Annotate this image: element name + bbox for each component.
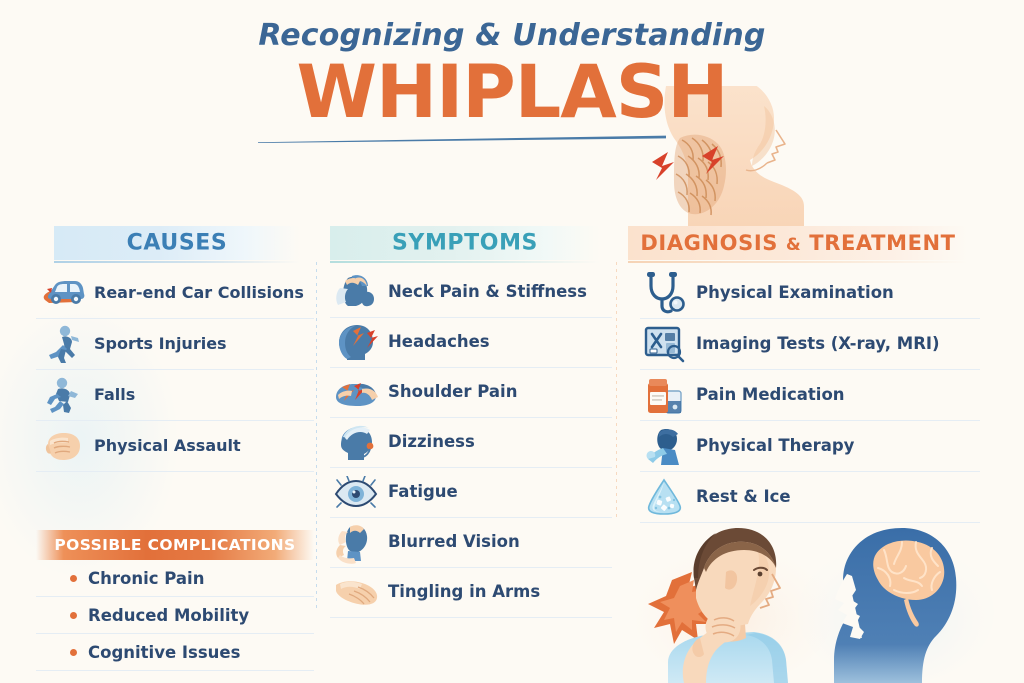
list-item-label: Chronic Pain <box>88 569 204 588</box>
list-item-label: Physical Examination <box>690 284 894 302</box>
title-underline-swoosh <box>258 135 668 143</box>
list-item[interactable]: Tingling in Arms <box>330 568 612 618</box>
list-item-label: Physical Assault <box>88 437 241 455</box>
section-divider <box>640 522 970 523</box>
blurred-vision-icon <box>330 521 382 565</box>
page-header: Recognizing & Understanding WHIPLASH <box>0 18 1024 129</box>
list-item[interactable]: Rest & Ice <box>640 472 980 523</box>
list-item[interactable]: Cognitive Issues <box>36 634 314 671</box>
list-item[interactable]: Neck Pain & Stiffness <box>330 268 612 318</box>
pill-bottle-icon <box>640 373 690 417</box>
list-item[interactable]: Headaches <box>330 318 612 368</box>
list-item[interactable]: Imaging Tests (X-ray, MRI) <box>640 319 980 370</box>
list-item[interactable]: Dizziness <box>330 418 612 468</box>
list-item[interactable]: Physical Examination <box>640 268 980 319</box>
person-holding-neck-pain-illustration <box>648 528 788 683</box>
physical-therapy-icon <box>640 424 690 468</box>
bullet-icon <box>70 649 77 656</box>
list-item[interactable]: Sports Injuries <box>36 319 314 370</box>
list-item[interactable]: Physical Therapy <box>640 421 980 472</box>
list-item[interactable]: Reduced Mobility <box>36 597 314 634</box>
list-item[interactable]: Physical Assault <box>36 421 314 472</box>
dizziness-icon <box>330 421 382 465</box>
section-title-symptoms: SYMPTOMS <box>330 231 600 256</box>
list-item-label: Headaches <box>382 333 490 351</box>
band-underline <box>54 261 300 263</box>
list-item-label: Physical Therapy <box>690 437 854 455</box>
ice-pack-icon <box>640 475 690 519</box>
list-item[interactable]: Rear-end Car Collisions <box>36 268 314 319</box>
fist-icon <box>36 424 88 468</box>
possible-complications-section: POSSIBLE COMPLICATIONS Chronic Pain Redu… <box>36 530 314 671</box>
symptoms-list: Neck Pain & Stiffness Headaches <box>330 268 612 618</box>
complications-header-band: POSSIBLE COMPLICATIONS <box>36 530 314 560</box>
list-item[interactable]: Chronic Pain <box>36 560 314 597</box>
section-header-causes: CAUSES <box>54 226 300 260</box>
running-person-icon <box>36 322 88 366</box>
tired-eye-icon <box>330 471 382 515</box>
list-item-label: Tingling in Arms <box>382 583 540 601</box>
list-item-label: Fatigue <box>382 483 458 501</box>
list-item-label: Cognitive Issues <box>88 643 240 662</box>
list-item-label: Reduced Mobility <box>88 606 249 625</box>
bullet-icon <box>70 575 77 582</box>
list-item[interactable]: Pain Medication <box>640 370 980 421</box>
diagnosis-word: DIAGNOSIS <box>640 231 778 255</box>
section-title-causes: CAUSES <box>54 231 300 256</box>
list-item-label: Neck Pain & Stiffness <box>382 283 587 301</box>
list-item-label: Falls <box>88 386 135 404</box>
bullet-icon <box>70 612 77 619</box>
whiplash-illustration-group <box>626 520 1024 683</box>
infographic-canvas: Recognizing & Understanding WHIPLASH <box>0 0 1024 683</box>
xray-viewer-icon <box>640 322 690 366</box>
section-header-diagnosis-treatment: DIAGNOSIS & TREATMENT <box>628 226 968 260</box>
section-header-symptoms: SYMPTOMS <box>330 226 600 260</box>
list-item[interactable]: Fatigue <box>330 468 612 518</box>
ampersand: & <box>786 235 801 255</box>
neck-pain-icon <box>330 271 382 315</box>
falling-person-icon <box>36 373 88 417</box>
list-item-label: Shoulder Pain <box>382 383 517 401</box>
column-divider-left <box>316 262 317 612</box>
headache-icon <box>330 321 382 365</box>
band-underline <box>628 261 968 263</box>
band-underline <box>330 261 600 263</box>
tingling-arm-icon <box>330 571 382 615</box>
stethoscope-icon <box>640 271 690 315</box>
treatment-word: TREATMENT <box>809 231 955 255</box>
car-collision-icon <box>36 271 88 315</box>
column-divider-right <box>616 262 617 520</box>
list-item[interactable]: Shoulder Pain <box>330 368 612 418</box>
list-item-label: Rear-end Car Collisions <box>88 284 304 302</box>
list-item-label: Dizziness <box>382 433 475 451</box>
list-item-label: Sports Injuries <box>88 335 227 353</box>
list-item-label: Rest & Ice <box>690 488 791 506</box>
complications-title: POSSIBLE COMPLICATIONS <box>54 536 295 554</box>
page-title: WHIPLASH <box>0 57 1024 129</box>
list-item[interactable]: Blurred Vision <box>330 518 612 568</box>
diagnosis-treatment-list: Physical Examination Imaging Tests (X-ra… <box>640 268 980 523</box>
list-item-label: Imaging Tests (X-ray, MRI) <box>690 335 940 353</box>
list-item-label: Pain Medication <box>690 386 845 404</box>
shoulder-pain-icon <box>330 371 382 415</box>
list-item[interactable]: Falls <box>36 370 314 421</box>
list-item-label: Blurred Vision <box>382 533 520 551</box>
causes-list: Rear-end Car Collisions Sports Injuries <box>36 268 314 472</box>
section-title-diagnosis: DIAGNOSIS & TREATMENT <box>628 231 968 255</box>
header-kicker: Recognizing & Understanding <box>0 18 1024 53</box>
